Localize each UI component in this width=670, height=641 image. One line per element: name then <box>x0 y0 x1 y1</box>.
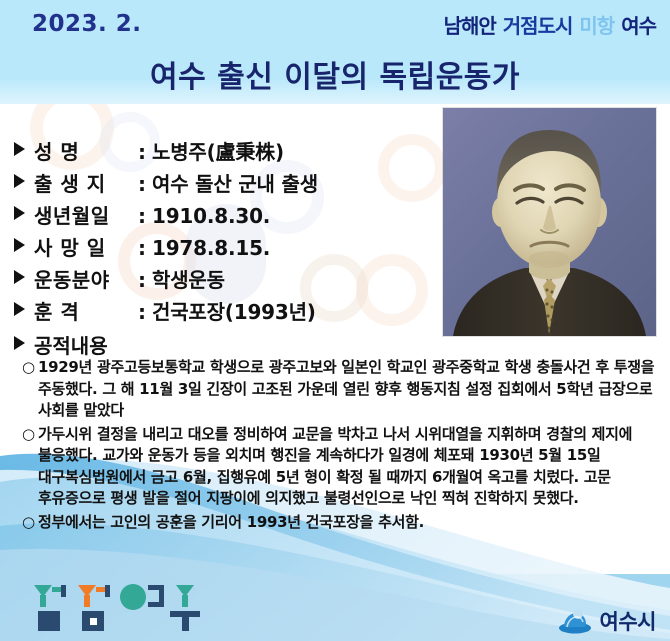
brand-text-yeosu: 여수 <box>621 10 656 39</box>
info-value-award: 건국포장(1993년) <box>152 296 316 325</box>
profile-info-list: 성 명 : 노병주(盧秉株) 출 생 지 : 여수 돌산 군내 출생 생년월일 … <box>14 136 434 328</box>
merit-paragraph-1: 1929년 광주고등보통학교 학생으로 광주고보와 일본인 학교인 광주중학교 … <box>38 357 658 422</box>
info-row-field: 운동분야 : 학생운동 <box>14 264 434 296</box>
triangle-bullet-icon <box>14 336 25 350</box>
info-row-name: 성 명 : 노병주(盧秉株) <box>14 136 434 168</box>
info-value-birthdate: 1910.8.30. <box>152 204 270 228</box>
issue-date: 2023. 2. <box>32 11 142 37</box>
merit-paragraph-3: 정부에서는 고인의 공훈을 기리어 1993년 건국포장을 추서함. <box>38 512 424 534</box>
circle-bullet-icon: ○ <box>22 357 38 378</box>
yeosu-city-logo-mark <box>558 608 592 634</box>
info-label-field: 운동분야 <box>34 264 138 293</box>
seomseom-yeosu-logo <box>30 583 220 635</box>
info-value-name: 노병주(盧秉株) <box>152 136 284 165</box>
info-label-birthplace: 출 생 지 <box>34 168 138 197</box>
brand-text-namhaean: 남해안 <box>444 10 496 39</box>
brand-text-geojeomdosi: 거점도시 <box>503 10 573 39</box>
circle-bullet-icon: ○ <box>22 424 38 445</box>
info-value-deathdate: 1978.8.15. <box>152 236 270 260</box>
triangle-bullet-icon <box>14 142 25 156</box>
merit-item: ○ 정부에서는 고인의 공훈을 기리어 1993년 건국포장을 추서함. <box>22 512 658 534</box>
city-logo-label: 여수시 <box>600 606 656 636</box>
info-colon-name: : <box>138 140 152 164</box>
city-brand-logo: 남해안 거점도시 미항 여수 <box>444 10 656 39</box>
triangle-bullet-icon <box>14 270 25 284</box>
merit-paragraph-2: 가두시위 결정을 내리고 대오를 정비하여 교문을 박차고 나서 시위대열을 지… <box>38 424 658 510</box>
triangle-bullet-icon <box>14 206 25 220</box>
portrait-illustration <box>443 108 656 336</box>
merit-heading-label: 공적내용 <box>34 330 108 359</box>
info-value-field: 학생운동 <box>152 264 225 293</box>
poster-root: 2023. 2. 남해안 거점도시 미항 여수 여수 출신 이달의 독립운동가 … <box>0 0 670 641</box>
triangle-bullet-icon <box>14 238 25 252</box>
merit-section-heading: 공적내용 <box>14 330 108 359</box>
info-value-birthplace: 여수 돌산 군내 출생 <box>152 168 318 197</box>
info-label-award: 훈 격 <box>34 296 138 325</box>
merit-item: ○ 1929년 광주고등보통학교 학생으로 광주고보와 일본인 학교인 광주중학… <box>22 357 658 422</box>
merit-content-list: ○ 1929년 광주고등보통학교 학생으로 광주고보와 일본인 학교인 광주중학… <box>22 357 658 535</box>
circle-bullet-icon: ○ <box>22 512 38 533</box>
info-colon-field: : <box>138 268 152 292</box>
brand-text-mihang: 미항 <box>579 10 614 39</box>
merit-item: ○ 가두시위 결정을 내리고 대오를 정비하여 교문을 박차고 나서 시위대열을… <box>22 424 658 510</box>
info-label-deathdate: 사 망 일 <box>34 232 138 261</box>
page-title: 여수 출신 이달의 독립운동가 <box>0 52 670 96</box>
info-colon-birthplace: : <box>138 172 152 196</box>
info-row-deathdate: 사 망 일 : 1978.8.15. <box>14 232 434 264</box>
info-row-birthplace: 출 생 지 : 여수 돌산 군내 출생 <box>14 168 434 200</box>
seomseom-yeosu-logo-mark <box>30 583 220 635</box>
info-label-birthdate: 생년월일 <box>34 200 138 229</box>
triangle-bullet-icon <box>14 302 25 316</box>
info-colon-birthdate: : <box>138 204 152 228</box>
info-row-award: 훈 격 : 건국포장(1993년) <box>14 296 434 328</box>
info-label-name: 성 명 <box>34 136 138 165</box>
triangle-bullet-icon <box>14 174 25 188</box>
info-colon-award: : <box>138 300 152 324</box>
info-row-birthdate: 생년월일 : 1910.8.30. <box>14 200 434 232</box>
info-colon-deathdate: : <box>138 236 152 260</box>
yeosu-city-logo: 여수시 <box>558 606 656 636</box>
portrait-photo <box>443 108 656 336</box>
